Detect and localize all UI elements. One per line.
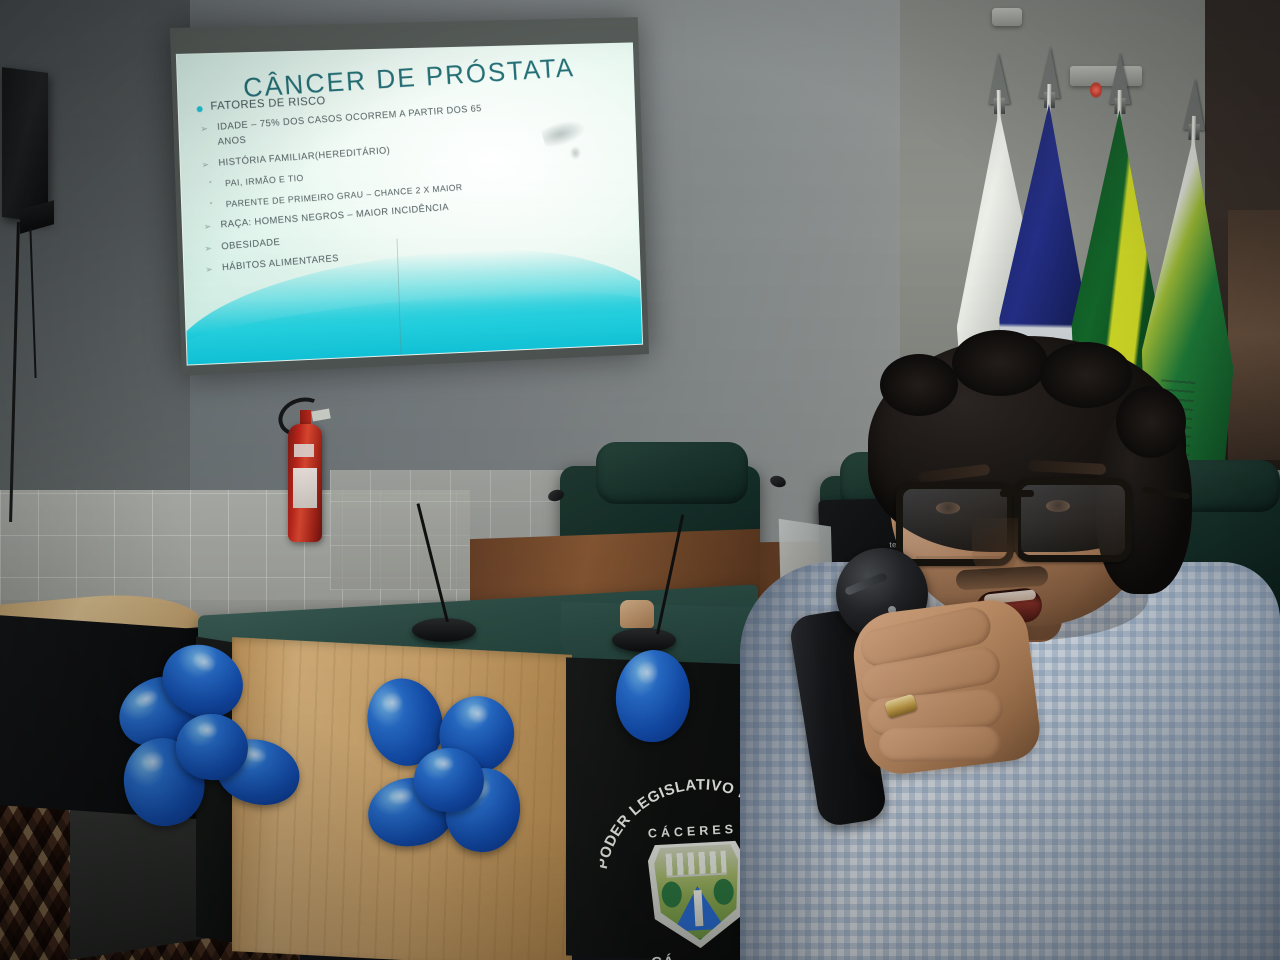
square-bullet-icon: ▪ <box>209 180 212 188</box>
bullet-text: ANOS <box>217 135 246 148</box>
extinguisher-label-small <box>294 444 314 457</box>
arrow-bullet-icon: ➢ <box>204 243 213 254</box>
hair-tuft <box>880 354 958 416</box>
bullet-text: HISTÓRIA FAMILIAR(HEREDITÁRIO) <box>218 145 391 168</box>
square-bullet-icon: ▪ <box>210 200 213 208</box>
desk-microphone-base-left[interactable] <box>412 618 476 642</box>
presenter <box>740 350 1280 960</box>
emblem-shield-inner <box>653 840 742 942</box>
presenter-glasses-icon <box>896 474 1164 550</box>
hair-tuft <box>1040 342 1132 408</box>
presenter-hand <box>849 596 1043 778</box>
arrow-bullet-icon: ➢ <box>200 124 209 135</box>
bullet-text: OBESIDADE <box>221 237 281 253</box>
finger <box>879 726 1002 762</box>
arrow-bullet-icon: ➢ <box>203 222 212 233</box>
screen-smudge-small <box>570 146 582 160</box>
bullet-text: HÁBITOS ALIMENTARES <box>222 253 340 273</box>
arrow-bullet-icon: ➢ <box>205 264 214 275</box>
bullet-text: PAI, IRMÃO E TIO <box>225 173 304 188</box>
arrow-bullet-icon: ➢ <box>201 159 210 170</box>
emblem-mural-crown-icon <box>666 851 727 878</box>
slide-surface: CÂNCER DE PRÓSTATA FATORES DE RISCO ➢ ID… <box>176 42 643 365</box>
slide-bullet-list: FATORES DE RISCO ➢ IDADE – 75% DOS CASOS… <box>194 89 628 275</box>
chair-center-headrest <box>596 442 748 504</box>
glasses-bridge <box>1000 490 1034 497</box>
fire-extinguisher-icon <box>276 392 338 552</box>
projection-screen: CÂNCER DE PRÓSTATA FATORES DE RISCO ➢ ID… <box>170 17 649 376</box>
extinguisher-label <box>293 468 317 508</box>
slide-content: CÂNCER DE PRÓSTATA FATORES DE RISCO ➢ ID… <box>177 43 642 364</box>
desk-object <box>620 600 654 628</box>
presentation-photo-scene: CÂNCER DE PRÓSTATA FATORES DE RISCO ➢ ID… <box>0 0 1280 960</box>
wall-speaker-icon <box>2 67 48 223</box>
hair-tuft <box>1116 386 1186 458</box>
wall-fixture-left <box>992 8 1022 26</box>
emblem-shield <box>647 834 749 951</box>
bullet-dot-icon <box>197 106 203 112</box>
desk-microphone-base-right[interactable] <box>612 628 676 652</box>
hair-tuft <box>952 330 1048 396</box>
